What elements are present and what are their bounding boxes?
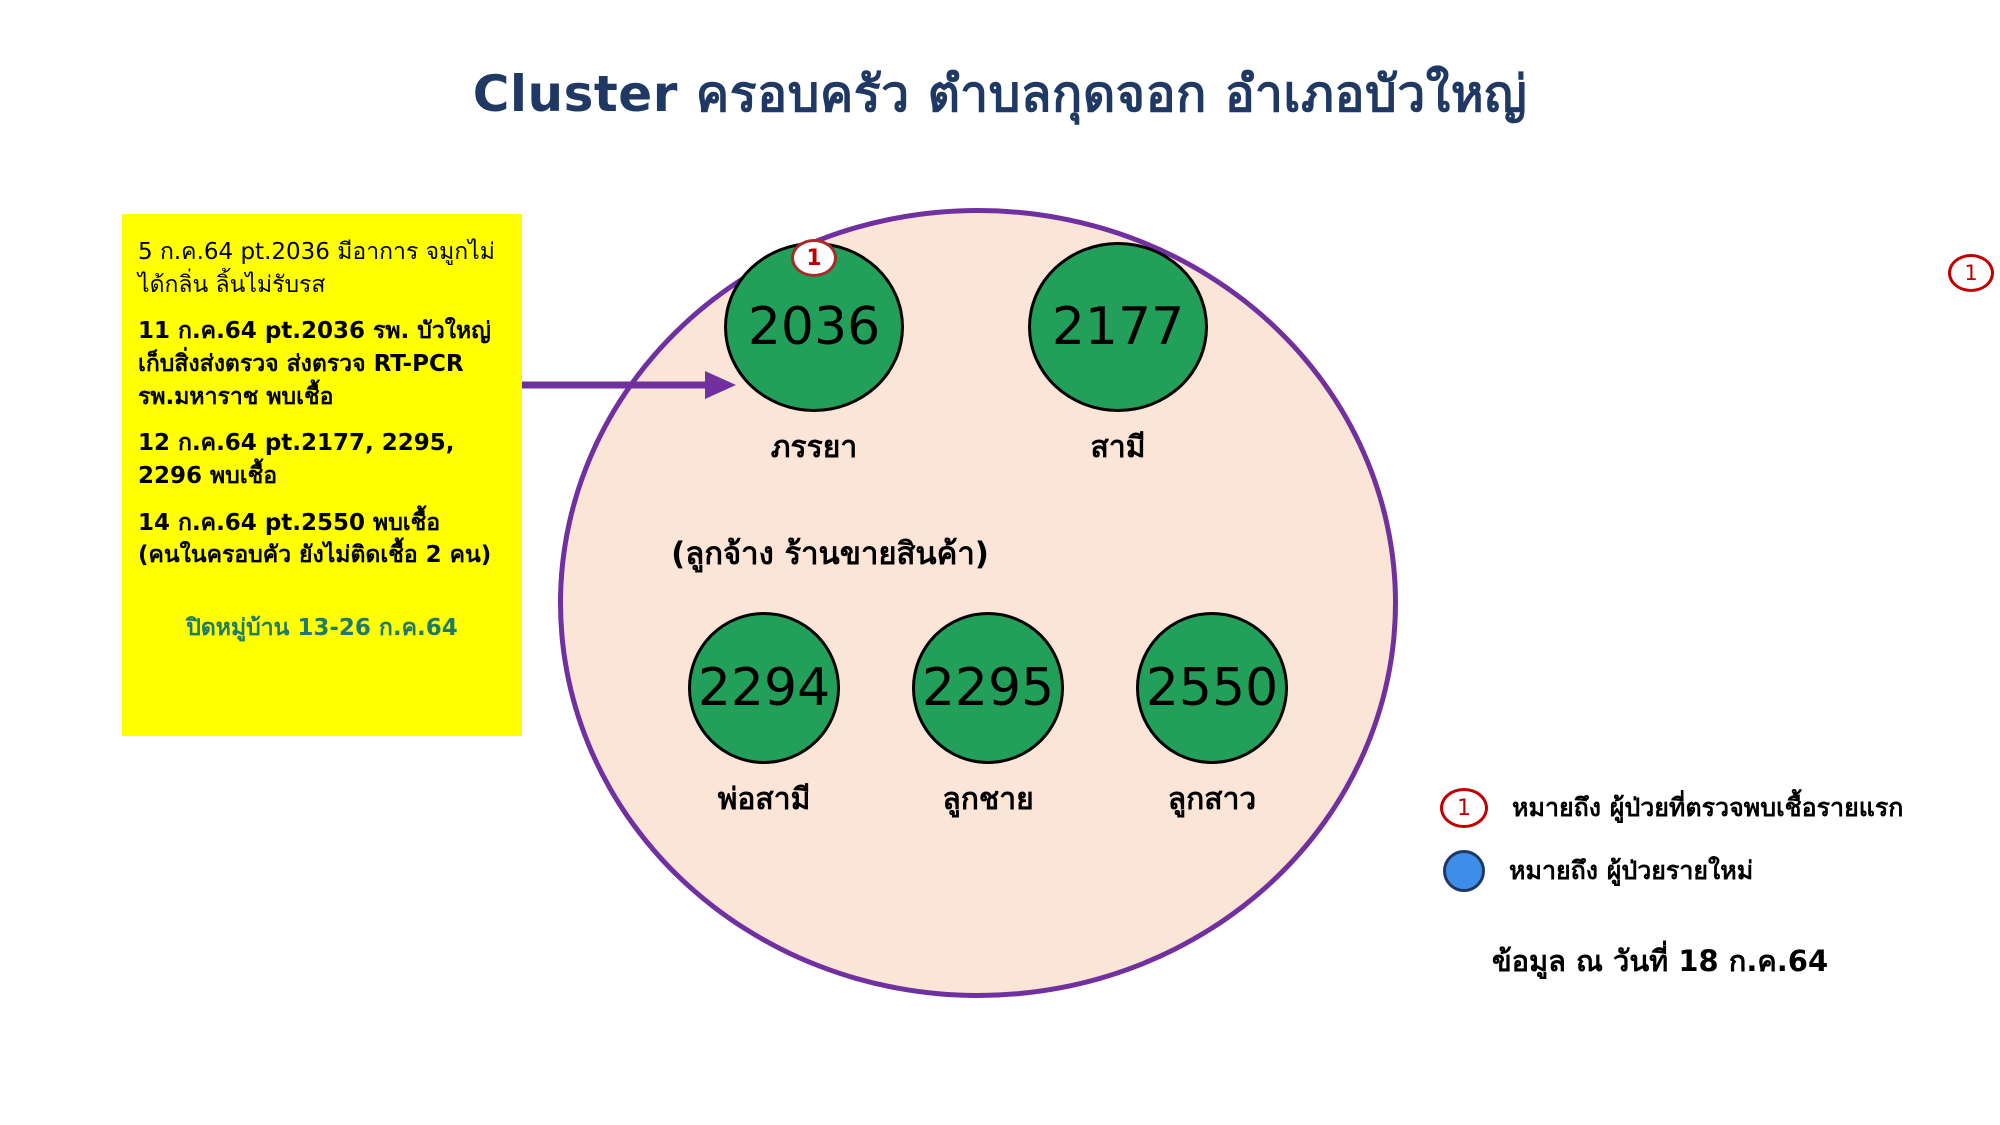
person-id-2036: 2036: [748, 301, 880, 353]
pointer-arrow-icon: [500, 355, 740, 415]
legend-label-first-case: หมายถึง ผู้ป่วยที่ตรวจพบเชื้อรายแรก: [1512, 788, 1903, 828]
legend-item-first-case: 1 หมายถึง ผู้ป่วยที่ตรวจพบเชื้อรายแรก: [1440, 788, 1960, 828]
person-node-2294[interactable]: 2294 พ่อสามี: [688, 612, 840, 823]
new-case-marker-icon: [1443, 850, 1485, 892]
village-lockdown-note: ปิดหมู่บ้าน 13-26 ก.ค.64: [138, 610, 506, 646]
data-as-of-date: ข้อมูล ณ วันที่ 18 ก.ค.64: [1360, 938, 1960, 984]
person-circle-2550[interactable]: 2550: [1136, 612, 1288, 764]
person-id-2294: 2294: [698, 662, 830, 714]
person-role-2294: พ่อสามี: [688, 776, 840, 823]
person-id-2550: 2550: [1146, 662, 1278, 714]
legend: 1 หมายถึง ผู้ป่วยที่ตรวจพบเชื้อรายแรก หม…: [1440, 788, 1960, 914]
person-node-2550[interactable]: 2550 ลูกสาว: [1136, 612, 1288, 823]
person-node-2295[interactable]: 2295 ลูกชาย: [912, 612, 1064, 823]
occupation-caption: (ลูกจ้าง ร้านขายสินค้า): [620, 528, 1040, 578]
person-circle-2177[interactable]: 2177: [1028, 242, 1208, 412]
person-circle-2294[interactable]: 2294: [688, 612, 840, 764]
slide-canvas: Cluster ครอบครัว ตำบลกุดจอก อำเภอบัวใหญ่…: [0, 0, 2000, 1125]
legend-item-new-case: หมายถึง ผู้ป่วยรายใหม่: [1440, 850, 1960, 892]
page-title: Cluster ครอบครัว ตำบลกุดจอก อำเภอบัวใหญ่: [0, 55, 2000, 134]
person-circle-2295[interactable]: 2295: [912, 612, 1064, 764]
note-line-3: 12 ก.ค.64 pt.2177, 2295, 2296 พบเชื้อ: [138, 427, 506, 492]
person-role-2036: ภรรยา: [724, 424, 904, 471]
person-node-2177[interactable]: 2177 สามี: [1028, 242, 1208, 471]
person-role-2295: ลูกชาย: [912, 776, 1064, 823]
person-id-2295: 2295: [922, 662, 1054, 714]
cluster-oval: [558, 208, 1398, 998]
first-case-badge: 1: [791, 239, 837, 277]
person-role-2550: ลูกสาว: [1136, 776, 1288, 823]
person-circle-2036[interactable]: 1 2036: [724, 242, 904, 412]
timeline-note-box: 5 ก.ค.64 pt.2036 มีอาการ จมูกไม่ได้กลิ่น…: [122, 214, 522, 736]
note-line-1: 5 ก.ค.64 pt.2036 มีอาการ จมูกไม่ได้กลิ่น…: [138, 236, 506, 301]
legend-label-new-case: หมายถึง ผู้ป่วยรายใหม่: [1509, 851, 1753, 891]
person-role-2177: สามี: [1028, 424, 1208, 471]
person-id-2177: 2177: [1052, 301, 1184, 353]
note-line-2: 11 ก.ค.64 pt.2036 รพ. บัวใหญ่ เก็บสิ่งส่…: [138, 315, 506, 413]
person-node-2036[interactable]: 1 2036 ภรรยา: [724, 242, 904, 471]
note-line-4: 14 ก.ค.64 pt.2550 พบเชื้อ (คนในครอบคัว ย…: [138, 507, 506, 572]
first-case-marker-icon: 1: [1440, 788, 1488, 828]
stray-first-case-marker-icon: 1: [1948, 254, 1994, 292]
